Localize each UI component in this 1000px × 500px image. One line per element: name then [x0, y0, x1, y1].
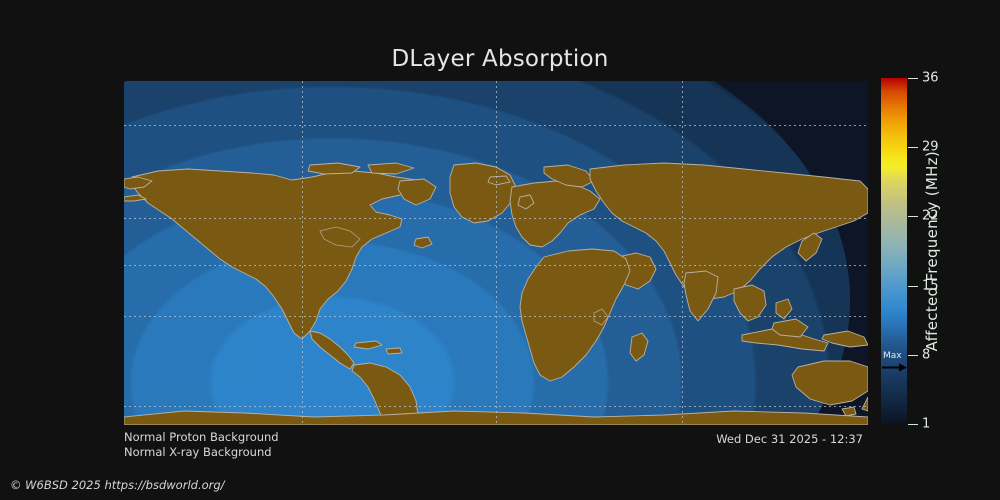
page-title: DLayer Absorption — [0, 46, 1000, 72]
colorbar-tick-22 — [908, 216, 918, 217]
proton-background-note: Normal Proton Background — [124, 430, 279, 444]
max-arrow-icon — [881, 362, 907, 373]
world-absorption-map[interactable] — [124, 81, 868, 425]
timestamp: Wed Dec 31 2025 - 12:37 — [716, 432, 863, 446]
colorbar-axis-title-text: Affected Frequency (MHz) — [923, 151, 941, 351]
colorbar-max-marker: Max — [881, 352, 907, 373]
colorbar-tick-36 — [908, 78, 918, 79]
credit-line: © W6BSD 2025 https://bsdworld.org/ — [10, 478, 225, 492]
gridline-lon-90w — [302, 81, 303, 425]
colorbar-max-label: Max — [881, 352, 907, 361]
land-hispaniola — [386, 348, 402, 354]
colorbar-axis-title: Affected Frequency (MHz) — [921, 78, 943, 424]
colorbar[interactable]: Max — [881, 78, 907, 424]
colorbar-tick-8 — [908, 355, 918, 356]
gridline-lon-0 — [496, 81, 497, 425]
colorbar-tick-15 — [908, 286, 918, 287]
dlayer-absorption-page: DLayer Absorption — [0, 0, 1000, 500]
xray-background-note: Normal X-ray Background — [124, 445, 272, 459]
colorbar-tick-1 — [908, 424, 918, 425]
colorbar-tick-29 — [908, 147, 918, 148]
gridline-lon-90e — [682, 81, 683, 425]
